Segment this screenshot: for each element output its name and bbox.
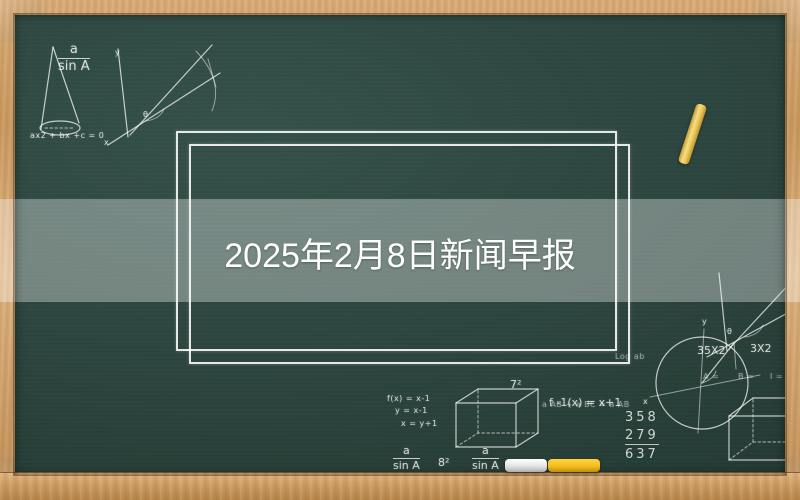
chalk-ledge xyxy=(0,472,800,500)
frame-inner-shadow xyxy=(14,14,786,475)
chalkboard-banner: a sin A ax2 + bx +c = 0 y x θ f(x) = x-1… xyxy=(0,0,800,500)
